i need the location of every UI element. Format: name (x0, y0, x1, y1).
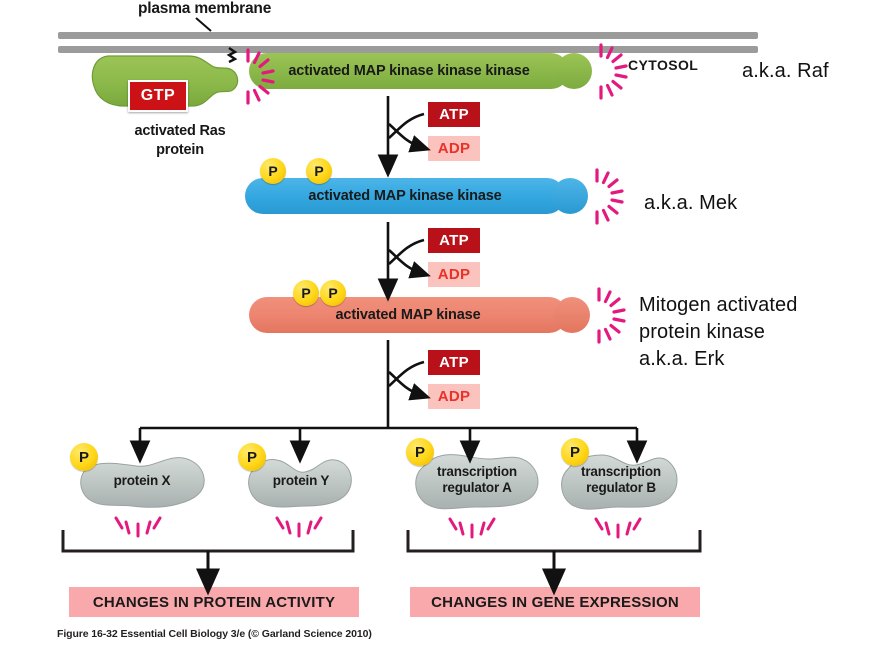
mapkk-phosphate-2: P (306, 158, 332, 184)
gtp-box: GTP (128, 80, 188, 112)
protein-y-label: protein Y (273, 473, 329, 489)
atp-inflow-curve-3 (389, 362, 424, 386)
transcription-regulator-b-sparkle (596, 519, 640, 537)
ras-label-line1: activated Ras (110, 122, 250, 141)
outcome-protein-activity: CHANGES IN PROTEIN ACTIVITY (69, 587, 359, 617)
atp-inflow-curve-2 (389, 240, 424, 264)
protein-activity-bracket (63, 530, 353, 551)
transcription-regulator-a-line2: regulator A (437, 480, 517, 496)
mapk-activation-sparkle (599, 289, 624, 342)
mapkk-phosphate-1: P (260, 158, 286, 184)
adp-box-3: ADP (428, 384, 480, 409)
atp-box-3: ATP (428, 350, 480, 375)
protein-x-phosphate: P (70, 443, 98, 471)
aka-erk-note: Mitogen activated protein kinase a.k.a. … (639, 292, 869, 373)
mapkk-activation-sparkle (597, 170, 622, 223)
mapkk-bar: activated MAP kinase kinase (245, 178, 565, 214)
mapkk-label: activated MAP kinase kinase (308, 188, 501, 204)
outcome-gene-expression: CHANGES IN GENE EXPRESSION (410, 587, 700, 617)
aka-raf-note: a.k.a. Raf (742, 58, 829, 85)
adp-box-1: ADP (428, 136, 480, 161)
mapkkk-label: activated MAP kinase kinase kinase (288, 63, 529, 79)
aka-erk-line3: a.k.a. Erk (639, 346, 869, 373)
protein-x-label: protein X (114, 473, 171, 489)
protein-x-line1: protein X (114, 473, 171, 489)
membrane-outer-leaflet (58, 32, 758, 39)
transcription-regulator-a-label: transcription regulator A (437, 464, 517, 496)
diagram-canvas: plasma membrane CYTOSOL GTP activated Ra… (0, 0, 888, 658)
plasma-membrane-pointer (196, 18, 211, 31)
mapk-phosphate-2: P (320, 280, 346, 306)
adp-outflow-curve-3 (389, 372, 421, 395)
transcription-regulator-b-label: transcription regulator B (581, 464, 661, 496)
activated-ras-label: activated Ras protein (110, 122, 250, 160)
transcription-regulator-a-line1: transcription (437, 464, 517, 480)
figure-caption: Figure 16-32 Essential Cell Biology 3/e … (57, 628, 372, 640)
mapkkk-knob (556, 53, 592, 89)
aka-erk-line1: Mitogen activated (639, 292, 869, 319)
mapkkk-bar: activated MAP kinase kinase kinase (249, 53, 569, 89)
protein-y-line1: protein Y (273, 473, 329, 489)
aka-mek-note: a.k.a. Mek (644, 190, 737, 217)
transcription-regulator-b-phosphate: P (561, 438, 589, 466)
transcription-regulator-a-phosphate: P (406, 438, 434, 466)
transcription-regulator-a-sparkle (450, 519, 494, 537)
aka-erk-line2: protein kinase (639, 319, 869, 346)
atp-inflow-curve-1 (389, 114, 424, 138)
adp-outflow-curve-1 (389, 124, 421, 147)
mapk-phosphate-1: P (293, 280, 319, 306)
ras-label-line2: protein (110, 141, 250, 160)
protein-x-sparkle (116, 518, 160, 536)
plasma-membrane-label: plasma membrane (138, 0, 271, 18)
protein-y-phosphate: P (238, 443, 266, 471)
atp-box-2: ATP (428, 228, 480, 253)
adp-box-2: ADP (428, 262, 480, 287)
transcription-regulator-b-line1: transcription (581, 464, 661, 480)
mapk-label: activated MAP kinase (335, 307, 480, 323)
gene-expression-bracket (408, 530, 700, 551)
adp-outflow-curve-2 (389, 250, 421, 273)
atp-box-1: ATP (428, 102, 480, 127)
mapk-knob (554, 297, 590, 333)
protein-y-sparkle (277, 518, 321, 536)
transcription-regulator-b-line2: regulator B (581, 480, 661, 496)
cytosol-label: CYTOSOL (628, 57, 698, 73)
mapkk-knob (552, 178, 588, 214)
